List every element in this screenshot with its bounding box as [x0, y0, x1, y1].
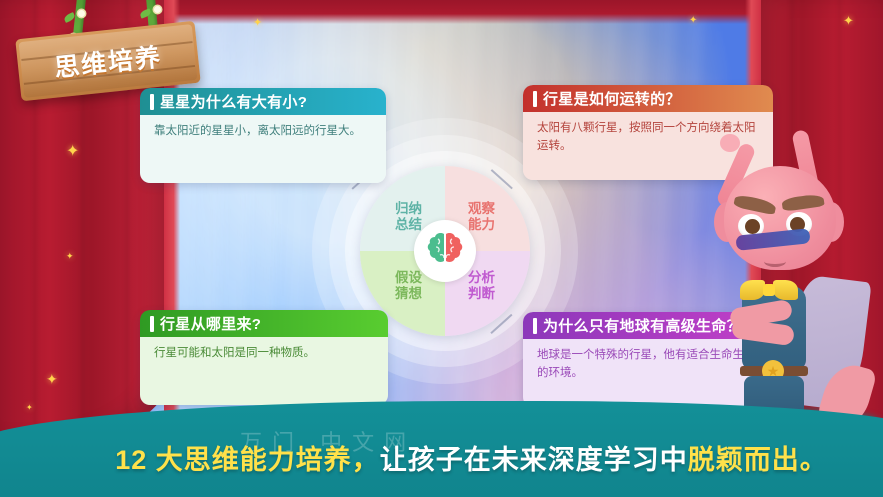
- accent-bar: [533, 318, 537, 334]
- flower-icon: [154, 6, 161, 13]
- banner-segment-2: 让孩子在未来深度学习中: [380, 438, 688, 477]
- wheel-hub: [414, 220, 476, 282]
- mascot-bowtie: [740, 280, 798, 300]
- info-card-header: 行星从哪里来?: [140, 310, 388, 337]
- info-card-title: 行星是如何运转的？: [543, 88, 681, 109]
- banner-segment-3: 脱颖而出。: [688, 438, 828, 477]
- flower-icon: [78, 10, 85, 17]
- brain-icon: [424, 231, 466, 271]
- accent-bar: [150, 316, 154, 332]
- wheel-quadrant-label: 观察 能力: [468, 201, 495, 232]
- info-card-body: 行星可能和太阳是同一种物质。: [140, 337, 388, 405]
- accent-bar: [150, 94, 154, 110]
- info-card-title: 行星从哪里来?: [160, 313, 261, 334]
- accent-bar: [533, 91, 537, 107]
- info-card-header: 行星是如何运转的？: [523, 85, 773, 112]
- wheel-quadrant-label: 归纳 总结: [395, 201, 422, 232]
- info-card-star-size[interactable]: 星星为什么有大有小? 靠太阳近的星星小，离太阳远的行星大。: [140, 88, 386, 183]
- slide-canvas: ✦ ✦ ✦ ✦ ✦ ✦ ✦ 思维培养 归纳 总结 观察 能力 假设 猜想: [0, 0, 883, 497]
- info-card-header: 星星为什么有大有小?: [140, 88, 386, 115]
- info-card-title: 星星为什么有大有小?: [160, 91, 307, 112]
- mascot-mouth: [764, 256, 786, 267]
- banner-segment-1: 12 大思维能力培养，: [115, 438, 380, 477]
- mascot-character: ★: [706, 128, 876, 428]
- wheel-quadrant-label: 分析 判断: [468, 270, 495, 301]
- info-card-body: 靠太阳近的星星小，离太阳远的行星大。: [140, 115, 386, 183]
- mascot-antenna-tip: [720, 134, 740, 152]
- wheel-quadrant-label: 假设 猜想: [395, 270, 422, 301]
- banner-text: 12 大思维能力培养， 让孩子在未来深度学习中 脱颖而出。: [30, 431, 883, 483]
- info-card-planet-origin[interactable]: 行星从哪里来? 行星可能和太阳是同一种物质。: [140, 310, 388, 405]
